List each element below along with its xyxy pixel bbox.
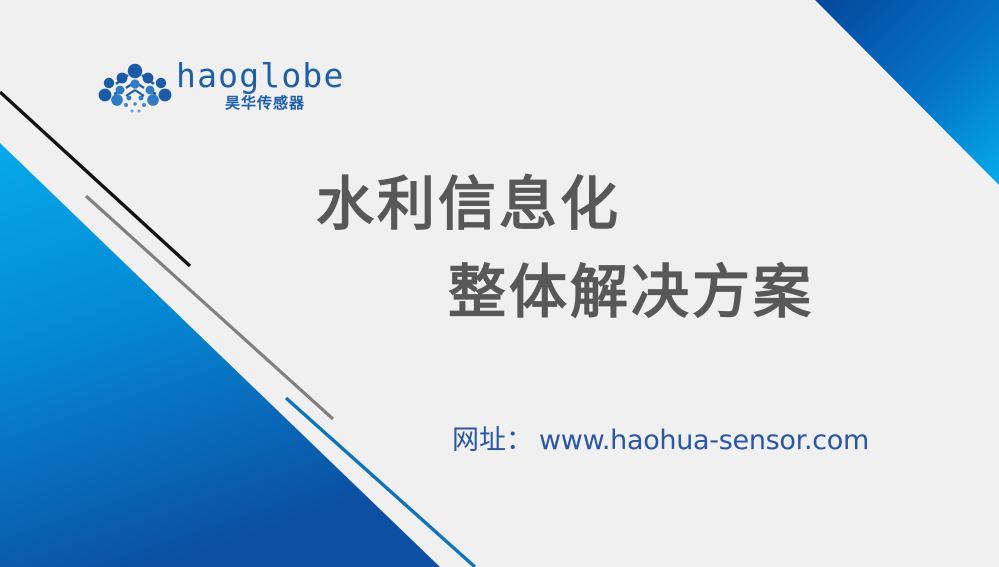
logo-subtitle: 昊华传感器 — [225, 94, 305, 112]
company-logo[interactable]: haoglobe 昊华传感器 — [96, 58, 321, 120]
website-line: 网址： www.haohua-sensor.com — [452, 418, 869, 457]
website-url[interactable]: www.haohua-sensor.com — [539, 425, 869, 456]
haoglobe-network-dots-logo-icon — [96, 60, 174, 118]
slide-title: 水利信息化 整体解决方案 — [310, 160, 870, 336]
presentation-title-slide: haoglobe 昊华传感器 水利信息化 整体解决方案 网址： www.haoh… — [0, 0, 999, 567]
website-label: 网址： — [452, 418, 533, 457]
title-line-2: 整体解决方案 — [310, 248, 870, 336]
title-line-1: 水利信息化 — [310, 160, 870, 248]
logo-wordmark: haoglobe — [176, 58, 345, 94]
